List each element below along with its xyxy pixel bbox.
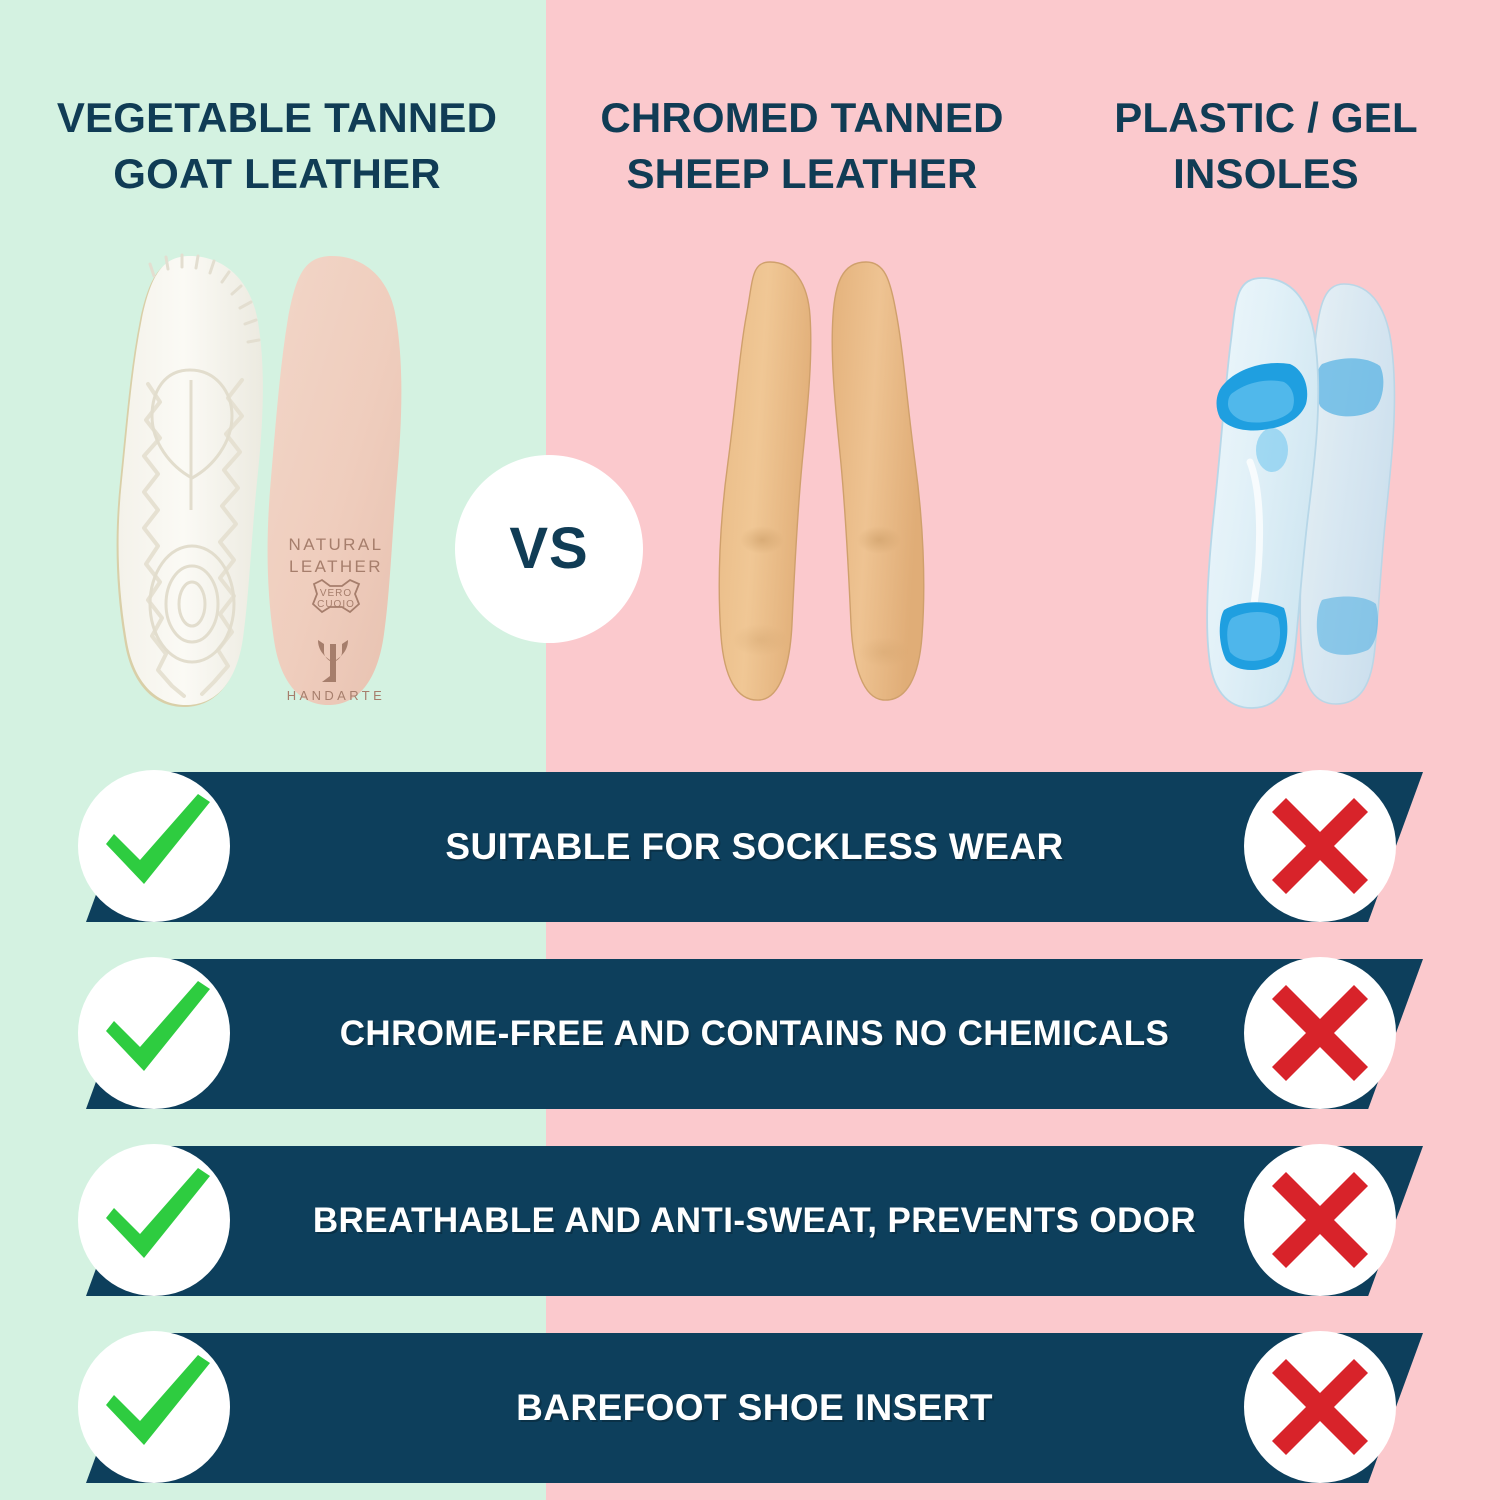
feature-label: SUITABLE FOR SOCKLESS WEAR xyxy=(245,826,1263,868)
mark-brand: HANDARTE xyxy=(287,688,385,703)
feature-ribbon: CHROME-FREE AND CONTAINS NO CHEMICALS xyxy=(86,959,1423,1109)
cross-icon xyxy=(1244,1331,1396,1483)
feature-ribbon: SUITABLE FOR SOCKLESS WEAR xyxy=(86,772,1423,922)
goat-insole-white xyxy=(117,255,263,707)
mark-natural-line1: NATURAL xyxy=(289,535,384,554)
cross-icon xyxy=(1244,1144,1396,1296)
sheep-insole-left xyxy=(719,262,811,700)
vs-badge: VS xyxy=(455,455,643,643)
product-image-plastic-gel-insoles xyxy=(1176,252,1426,714)
feature-row-3: BREATHABLE AND ANTI-SWEAT, PREVENTS ODOR xyxy=(0,1146,1500,1296)
vs-label: VS xyxy=(509,520,588,578)
cross-icon xyxy=(1244,770,1396,922)
feature-label: BREATHABLE AND ANTI-SWEAT, PREVENTS ODOR xyxy=(113,1201,1396,1241)
feature-row-2: CHROME-FREE AND CONTAINS NO CHEMICALS xyxy=(0,959,1500,1109)
product-image-chromed-tanned-sheep-leather xyxy=(706,252,930,714)
feature-row-1: SUITABLE FOR SOCKLESS WEAR xyxy=(0,772,1500,922)
goat-insole-natural: NATURAL LEATHER VERO CUOIO HANDARTE xyxy=(268,256,402,705)
svg-text:VERO: VERO xyxy=(320,588,352,599)
check-icon xyxy=(78,1144,230,1296)
mark-natural-line2: LEATHER xyxy=(289,557,383,576)
feature-label: BAREFOOT SHOE INSERT xyxy=(316,1387,1193,1429)
product-image-vegetable-tanned-goat-leather: NATURAL LEATHER VERO CUOIO HANDARTE xyxy=(110,252,410,714)
sheep-insole-right xyxy=(832,262,924,700)
feature-ribbon: BREATHABLE AND ANTI-SWEAT, PREVENTS ODOR xyxy=(86,1146,1423,1296)
column-heading-vegetable-tanned: VEGETABLE TANNED GOAT LEATHER xyxy=(12,90,542,202)
svg-text:CUOIO: CUOIO xyxy=(317,599,355,610)
check-icon xyxy=(78,957,230,1109)
feature-row-4: BAREFOOT SHOE INSERT xyxy=(0,1333,1500,1483)
check-icon xyxy=(78,1331,230,1483)
feature-ribbon: BAREFOOT SHOE INSERT xyxy=(86,1333,1423,1483)
feature-label: CHROME-FREE AND CONTAINS NO CHEMICALS xyxy=(140,1014,1370,1054)
infographic-canvas: VEGETABLE TANNED GOAT LEATHER CHROMED TA… xyxy=(0,0,1500,1500)
column-heading-plastic-gel: PLASTIC / GEL INSOLES xyxy=(1066,90,1466,202)
cross-icon xyxy=(1244,957,1396,1109)
column-heading-chromed-tanned: CHROMED TANNED SHEEP LEATHER xyxy=(566,90,1038,202)
check-icon xyxy=(78,770,230,922)
